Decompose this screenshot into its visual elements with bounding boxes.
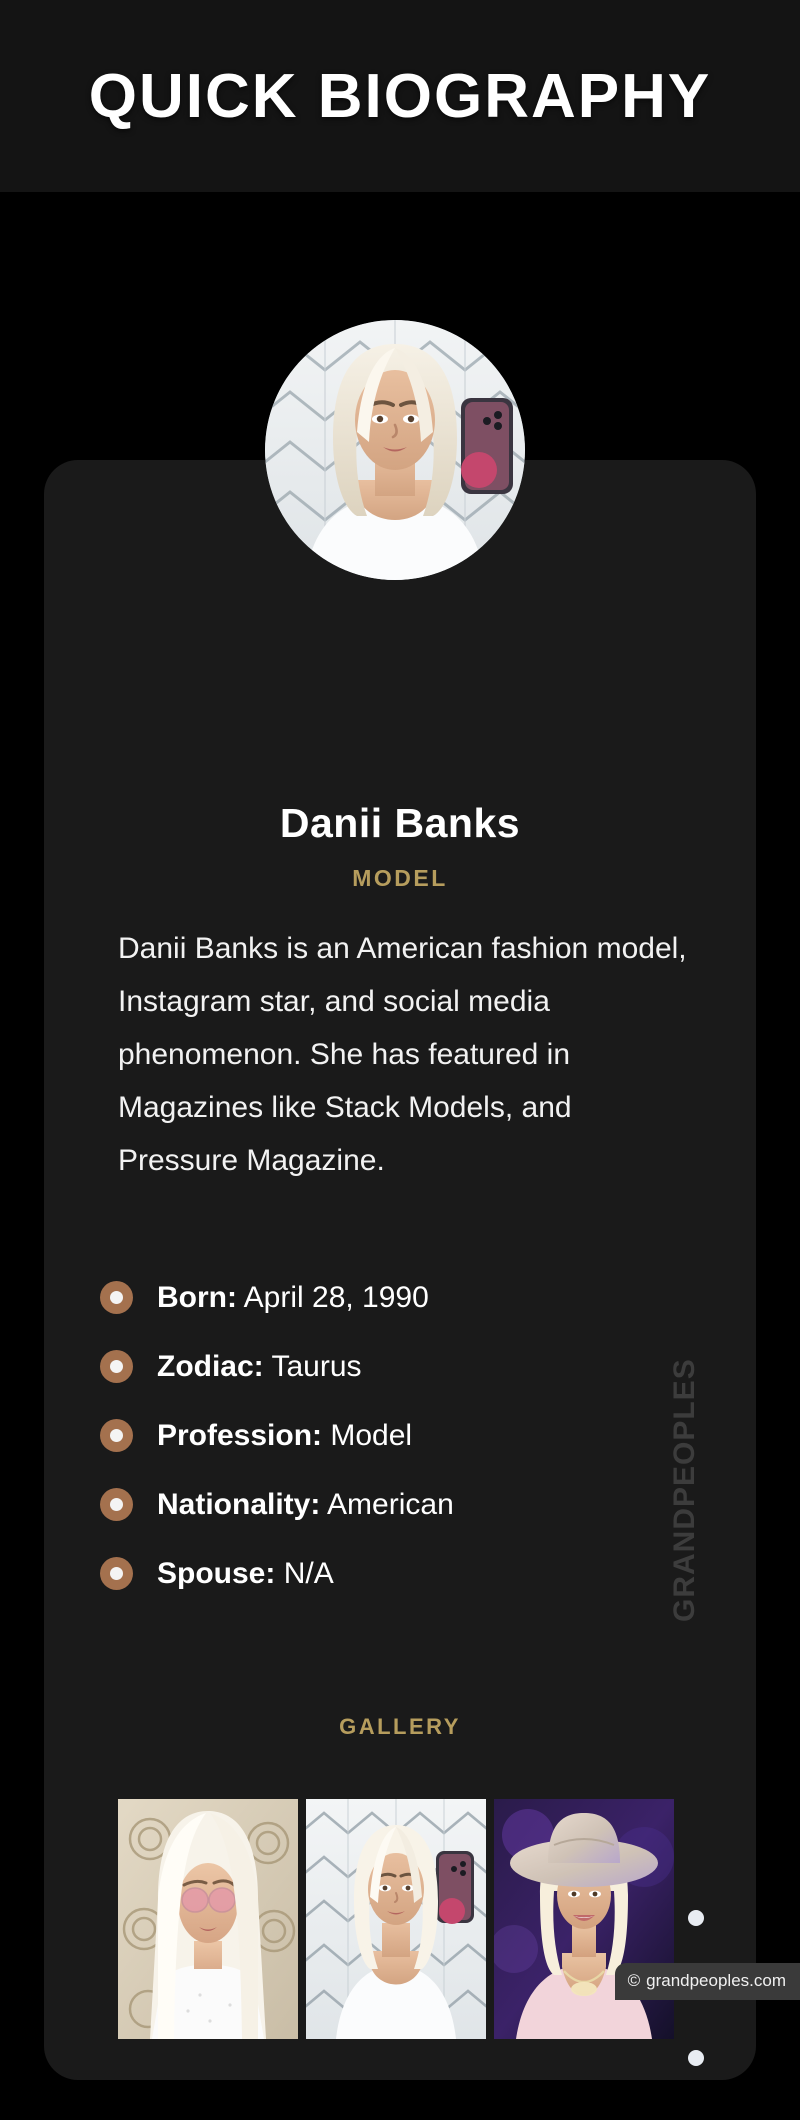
fact-label: Spouse:: [157, 1557, 275, 1590]
gallery-strip: [118, 1799, 674, 2039]
fact-text: Spouse: N/A: [157, 1557, 334, 1591]
list-item: Profession: Model: [100, 1412, 720, 1459]
profile-description: Danii Banks is an American fashion model…: [118, 922, 696, 1187]
fact-value: American: [320, 1488, 453, 1521]
bullet-dot-icon: [100, 1488, 133, 1521]
gallery-photo-1[interactable]: [118, 1799, 298, 2039]
list-item[interactable]: [688, 1910, 704, 1926]
fact-text: Born: April 28, 1990: [157, 1281, 429, 1315]
bullet-dot-icon: [100, 1350, 133, 1383]
profile-name: Danii Banks: [0, 800, 800, 847]
copyright-icon: ©: [628, 1971, 641, 1991]
page-title: QUICK BIOGRAPHY: [89, 61, 711, 132]
gallery-pagination-dots[interactable]: [688, 1910, 704, 2120]
list-item: Zodiac: Taurus: [100, 1343, 720, 1390]
fact-value: Taurus: [264, 1350, 362, 1383]
footer-copyright-badge: © grandpeoples.com: [615, 1963, 800, 2000]
bullet-dot-icon: [100, 1557, 133, 1590]
bullet-dot-icon: [100, 1281, 133, 1314]
brand-watermark: GRANDPEOPLES: [668, 1358, 702, 1622]
fact-value: April 28, 1990: [237, 1281, 429, 1314]
list-item: Born: April 28, 1990: [100, 1274, 720, 1321]
fact-text: Nationality: American: [157, 1488, 454, 1522]
gallery-title: GALLERY: [0, 1714, 800, 1740]
fact-text: Profession: Model: [157, 1419, 412, 1453]
gallery-photo-2[interactable]: [306, 1799, 486, 2039]
page-body: Danii Banks MODEL Danii Banks is an Amer…: [0, 192, 800, 2000]
fact-value: N/A: [275, 1557, 333, 1590]
profile-avatar-photo-icon: [265, 320, 525, 580]
page-header: QUICK BIOGRAPHY: [0, 0, 800, 192]
fact-label: Born:: [157, 1281, 237, 1314]
facts-list: Born: April 28, 1990 Zodiac: Taurus Prof…: [100, 1274, 720, 1619]
list-item: Spouse: N/A: [100, 1550, 720, 1597]
fact-text: Zodiac: Taurus: [157, 1350, 362, 1384]
fact-value: Model: [322, 1419, 412, 1452]
fact-label: Zodiac:: [157, 1350, 264, 1383]
gallery-photo-3[interactable]: [494, 1799, 674, 2039]
bullet-dot-icon: [100, 1419, 133, 1452]
fact-label: Nationality:: [157, 1488, 320, 1521]
list-item[interactable]: [688, 2050, 704, 2066]
list-item: Nationality: American: [100, 1481, 720, 1528]
footer-site-label: grandpeoples.com: [646, 1971, 786, 1991]
fact-label: Profession:: [157, 1419, 322, 1452]
profile-role: MODEL: [0, 865, 800, 892]
